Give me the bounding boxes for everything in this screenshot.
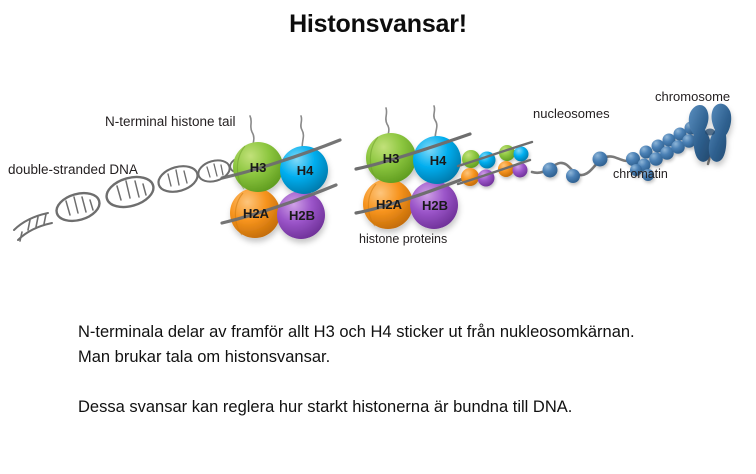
nucleosome-bead bbox=[593, 152, 608, 167]
label-chromosome: chromosome bbox=[655, 89, 730, 104]
chromatin-packaging-diagram: H3 H4 H2A H2B H3 H4 H2A H2B double-stran… bbox=[0, 80, 756, 265]
body-paragraph-2: Dessa svansar kan reglera hur starkt his… bbox=[78, 395, 718, 420]
label-nucleosomes: nucleosomes bbox=[533, 106, 610, 121]
body-text-block: N-terminala delar av framför allt H3 och… bbox=[78, 320, 718, 420]
histone-sphere-h4 bbox=[514, 147, 529, 162]
body-paragraph-1-line-2: Man brukar tala om histonsvansar. bbox=[78, 345, 718, 370]
label-n-terminal-histone-tail: N-terminal histone tail bbox=[105, 114, 236, 129]
histone-label-h4: H4 bbox=[423, 153, 453, 168]
label-double-stranded-dna: double-stranded DNA bbox=[8, 162, 138, 177]
histone-label-h2b: H2B bbox=[415, 198, 455, 213]
histone-label-h2b: H2B bbox=[282, 208, 322, 223]
histone-label-h2a: H2A bbox=[236, 206, 276, 221]
histone-label-h4: H4 bbox=[290, 163, 320, 178]
histone-label-h2a: H2A bbox=[369, 197, 409, 212]
label-histone-proteins: histone proteins bbox=[359, 232, 447, 246]
nucleosome-bead bbox=[566, 169, 580, 183]
nucleosome-bead bbox=[543, 163, 558, 178]
page-title: Histonsvansar! bbox=[0, 10, 756, 39]
chromosome-shape bbox=[689, 104, 731, 162]
histone-label-h3: H3 bbox=[376, 151, 406, 166]
body-paragraph-1-line-1: N-terminala delar av framför allt H3 och… bbox=[78, 320, 718, 345]
paragraph-spacer bbox=[78, 370, 718, 395]
label-chromatin: chromatin bbox=[613, 167, 668, 181]
histone-label-h3: H3 bbox=[243, 160, 273, 175]
